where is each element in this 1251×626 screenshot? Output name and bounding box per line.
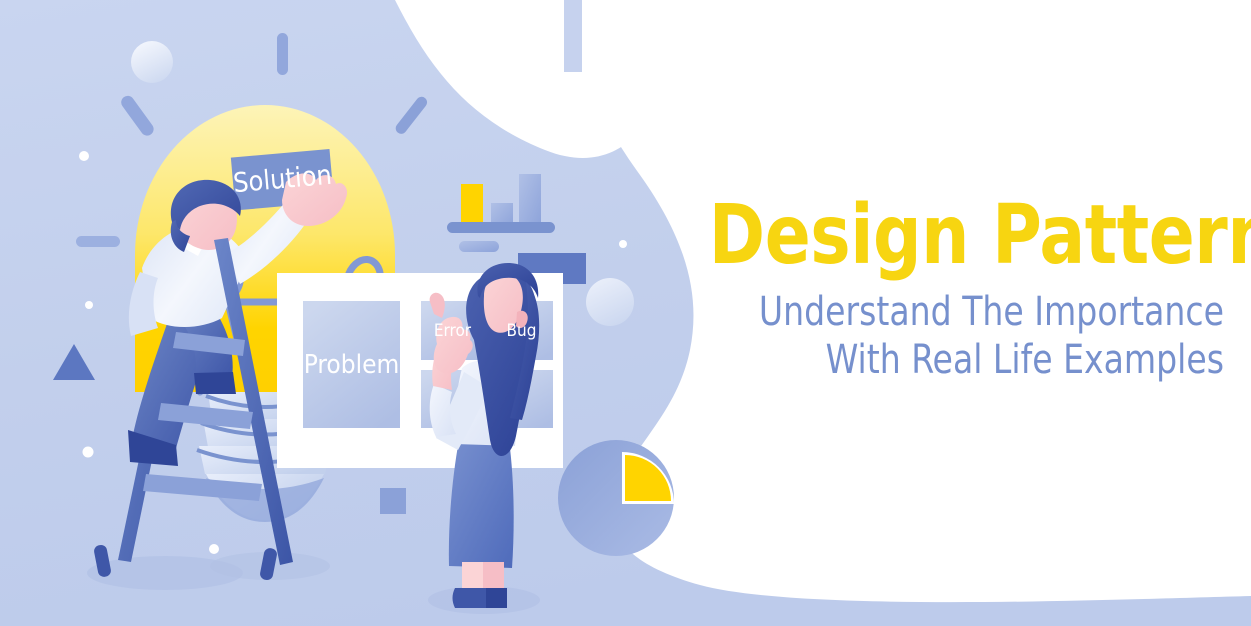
card-bug-label: Bug <box>507 321 537 341</box>
dot-mark-icon <box>79 151 89 161</box>
circle-glow-icon <box>586 278 634 326</box>
pie-slice-yellow <box>625 455 671 501</box>
dot-mark-icon <box>85 301 93 309</box>
card-problem-label: Problem <box>304 350 400 380</box>
solution-card-label-wrap: Solution <box>231 149 334 210</box>
bar-3 <box>519 174 541 227</box>
circle-glow-icon <box>131 41 173 83</box>
bar-baseline <box>447 222 555 233</box>
card-error-label-wrap: Error <box>421 301 484 360</box>
solution-card-label: Solution <box>232 160 333 200</box>
card-error-label: Error <box>434 321 471 341</box>
dash-mark-icon <box>277 33 288 75</box>
card-problem-label-wrap: Problem <box>303 301 400 428</box>
card-bug-label-wrap: Bug <box>490 301 553 360</box>
dot-mark-icon <box>83 447 94 458</box>
dot-mark-icon <box>619 240 627 248</box>
square-mark-icon <box>380 488 406 514</box>
design-patterns-banner: Design Patterns Understand The Importanc… <box>0 0 1251 626</box>
pie-chart <box>558 440 674 556</box>
bar-mark-icon <box>564 0 582 72</box>
bar-1 <box>461 184 483 227</box>
dash-mark-icon <box>76 236 120 247</box>
illustration-canvas <box>0 0 1251 626</box>
bar-legend <box>459 241 499 252</box>
